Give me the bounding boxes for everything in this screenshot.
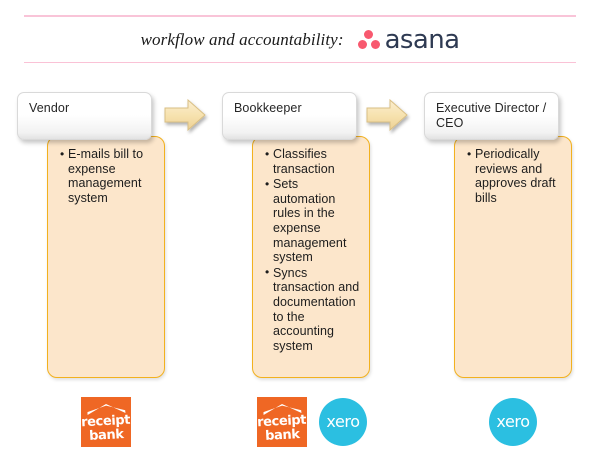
detail-box-executive[interactable]: Periodically reviews and approves draft … xyxy=(454,136,572,378)
role-box-bookkeeper[interactable]: Bookkeeper xyxy=(222,92,357,140)
list-item: E-mails bill to expense management syste… xyxy=(60,147,156,205)
flow-column-executive: Executive Director / CEO Periodically re… xyxy=(407,0,600,460)
xero-logo[interactable]: xero xyxy=(489,398,537,446)
receipt-bank-wordmark: receipt bank xyxy=(81,414,131,444)
receipt-bank-logo[interactable]: receipt bank xyxy=(81,397,131,447)
flow-column-vendor: Vendor E-mails bill to expense managemen… xyxy=(0,0,200,460)
detail-box-bookkeeper[interactable]: Classifies transaction Sets automation r… xyxy=(252,136,370,378)
arrow-shape xyxy=(165,100,205,130)
receipt-bank-wordmark: receipt bank xyxy=(257,414,307,444)
detail-list-vendor: E-mails bill to expense management syste… xyxy=(48,137,164,205)
xero-logo[interactable]: xero xyxy=(319,398,367,446)
list-item: Sets automation rules in the expense man… xyxy=(265,177,361,265)
tool-logos-executive: xero xyxy=(489,398,537,446)
role-label-vendor: Vendor xyxy=(29,101,145,116)
flow-arrow-2 xyxy=(366,99,408,131)
tool-logos-bookkeeper: receipt bank xero xyxy=(257,397,367,447)
tool-logos-vendor: receipt bank xyxy=(81,397,131,447)
role-box-executive[interactable]: Executive Director / CEO xyxy=(424,92,559,140)
role-label-executive: Executive Director / CEO xyxy=(436,101,552,131)
list-item: Syncs transaction and documentation to t… xyxy=(265,266,361,354)
role-label-bookkeeper: Bookkeeper xyxy=(234,101,350,116)
flow-arrow-1 xyxy=(164,99,206,131)
detail-list-bookkeeper: Classifies transaction Sets automation r… xyxy=(253,137,369,353)
list-item: Classifies transaction xyxy=(265,147,361,176)
xero-wordmark: xero xyxy=(326,414,359,430)
detail-box-vendor[interactable]: E-mails bill to expense management syste… xyxy=(47,136,165,378)
detail-list-executive: Periodically reviews and approves draft … xyxy=(455,137,571,205)
xero-wordmark: xero xyxy=(496,414,529,430)
arrow-shape xyxy=(367,100,407,130)
receipt-bank-logo[interactable]: receipt bank xyxy=(257,397,307,447)
receipt-bank-line2: bank xyxy=(265,427,300,444)
list-item: Periodically reviews and approves draft … xyxy=(467,147,563,205)
flow-column-bookkeeper: Bookkeeper Classifies transaction Sets a… xyxy=(205,0,410,460)
role-box-vendor[interactable]: Vendor xyxy=(17,92,152,140)
receipt-bank-line2: bank xyxy=(89,427,124,444)
